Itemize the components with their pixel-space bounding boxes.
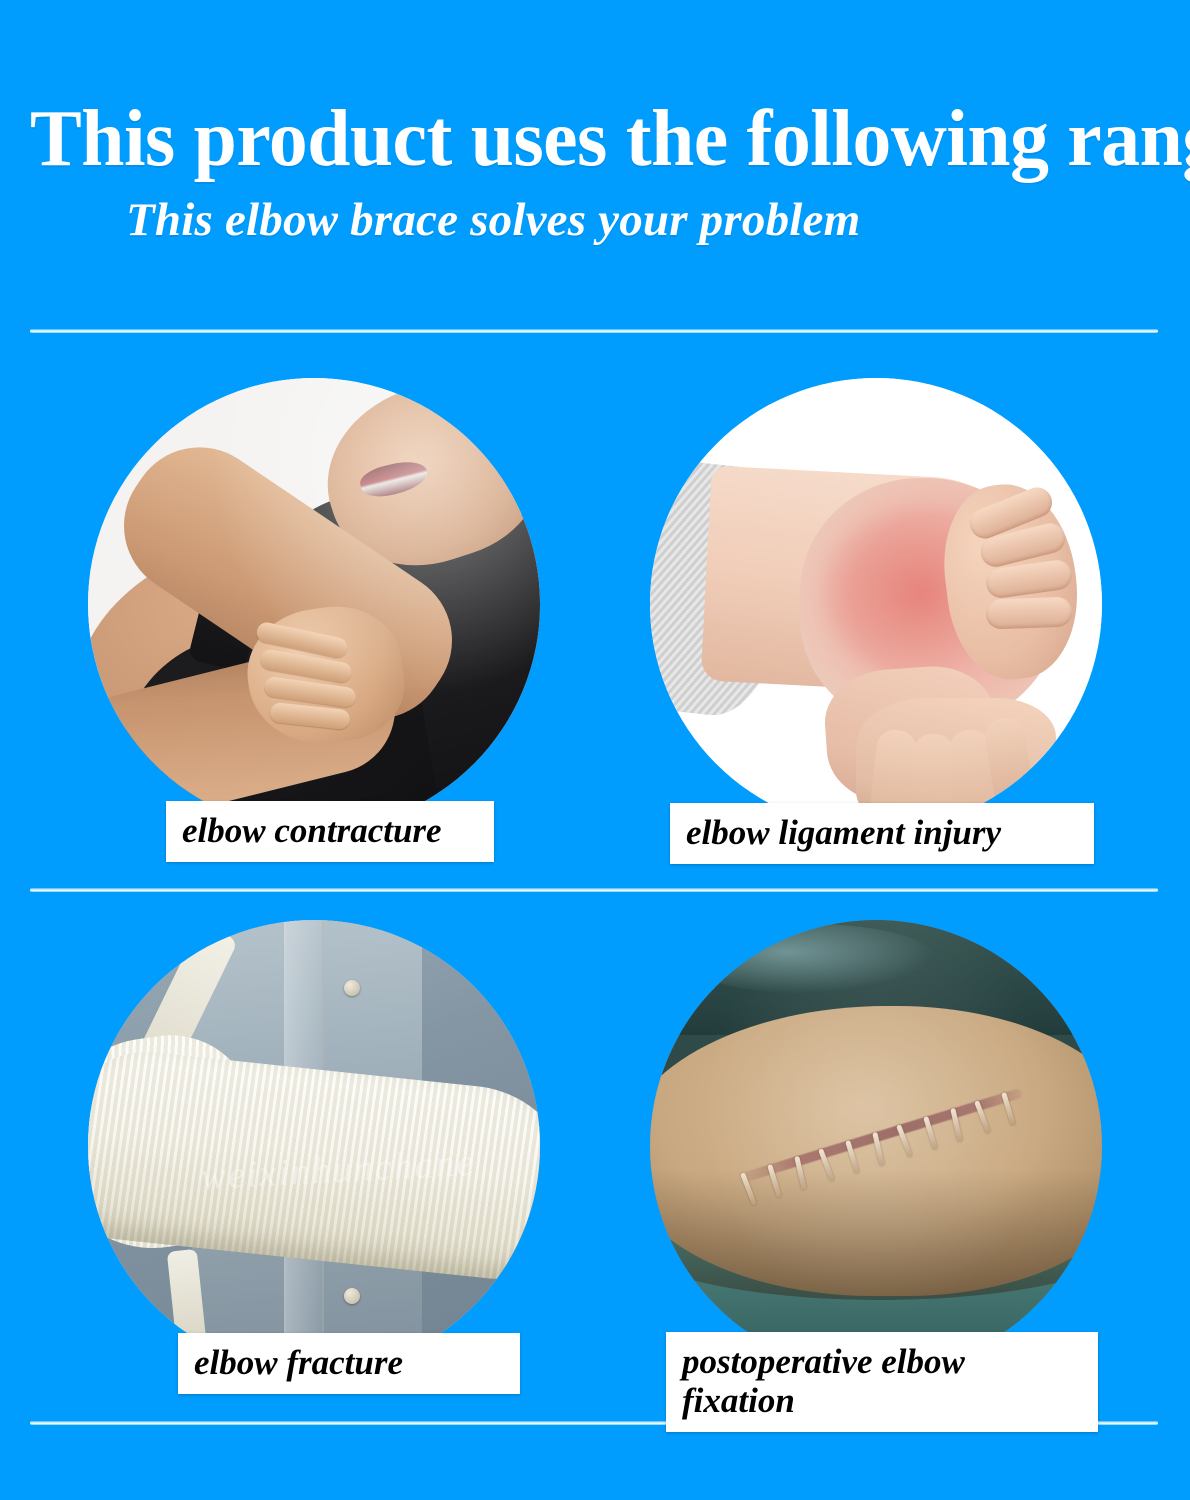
photo-elbow-ligament-injury (650, 378, 1102, 830)
divider-top (30, 329, 1158, 333)
product-infographic: This product uses the following range Th… (0, 0, 1190, 1500)
caption-elbow-ligament-injury: elbow ligament injury (670, 803, 1094, 864)
gallery-item-elbow-contracture (88, 378, 540, 830)
page-subtitle: This elbow brace solves your problem (126, 191, 860, 249)
caption-elbow-contracture: elbow contracture (166, 801, 494, 862)
gallery-item-elbow-ligament-injury (650, 378, 1102, 830)
photo-illustration (88, 378, 540, 830)
photo-illustration (650, 920, 1102, 1372)
gallery-item-postoperative-elbow-fixation (650, 920, 1102, 1372)
photo-postoperative-elbow-fixation (650, 920, 1102, 1372)
caption-postoperative-elbow-fixation: postoperative elbow fixation (666, 1332, 1098, 1432)
gallery-item-elbow-fracture: weixinhunchane (88, 920, 540, 1372)
page-title: This product uses the following range (30, 96, 1136, 182)
photo-elbow-contracture (88, 378, 540, 830)
photo-illustration (650, 378, 1102, 830)
caption-elbow-fracture: elbow fracture (178, 1333, 520, 1394)
photo-elbow-fracture: weixinhunchane (88, 920, 540, 1372)
divider-middle (30, 888, 1158, 892)
photo-illustration: weixinhunchane (88, 920, 540, 1372)
